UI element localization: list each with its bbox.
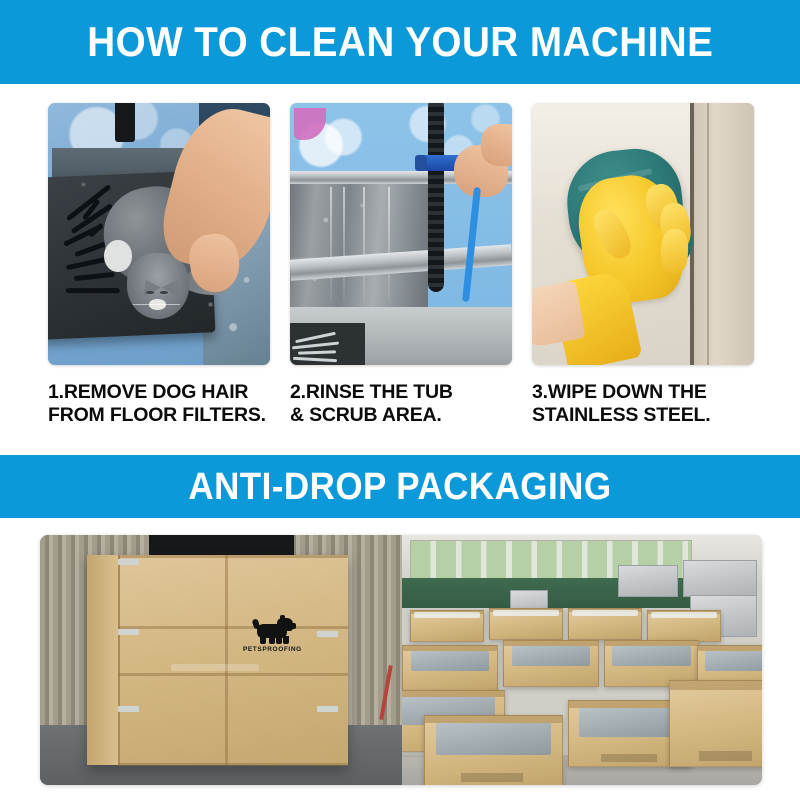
- cat-eye-right: [160, 291, 168, 294]
- packaging-banner-title: ANTI-DROP PACKAGING: [188, 468, 611, 506]
- ceiling-bar: [115, 103, 135, 142]
- crate-item: [647, 610, 721, 642]
- crate-slat: [118, 763, 348, 766]
- step-2-caption: 2.RINSE THE TUB & SCRUB AREA.: [290, 381, 512, 427]
- crate-lip: [504, 641, 597, 646]
- crate-slat: [118, 555, 348, 558]
- step-3-photo: [532, 103, 754, 365]
- dog-ear: [280, 615, 285, 622]
- crate-metal-bracket: [118, 559, 139, 565]
- cleaning-step-3: 3.WIPE DOWN THE STAINLESS STEEL.: [532, 103, 754, 427]
- water-drip: [388, 187, 390, 302]
- water-drip: [330, 187, 332, 302]
- water-drip: [343, 187, 345, 302]
- stainless-tub-insert: [436, 723, 551, 755]
- workbench-equipment: [618, 565, 678, 597]
- dog-snout: [289, 623, 296, 629]
- stainless-tub-insert: [705, 651, 762, 672]
- cleaning-banner-title: HOW TO CLEAN YOUR MACHINE: [87, 21, 713, 63]
- plastic-wrap: [493, 610, 559, 616]
- crate-metal-bracket: [118, 706, 139, 712]
- cleaning-step-1: 1.REMOVE DOG HAIR FROM FLOOR FILTERS.: [48, 103, 270, 427]
- water-drip: [363, 187, 365, 302]
- cleaning-step-2: 2.RINSE THE TUB & SCRUB AREA.: [290, 103, 512, 427]
- packaging-banner: ANTI-DROP PACKAGING: [0, 455, 800, 518]
- crate-side-panel: [87, 555, 120, 765]
- crate-metal-bracket: [317, 706, 338, 712]
- step-2-photo: [290, 103, 512, 365]
- crate-lip: [670, 681, 762, 690]
- crate-center-post: [225, 555, 228, 765]
- crate-shipping-label: [699, 751, 752, 761]
- plate-screw: [81, 182, 86, 187]
- packaging-photo-crate: PETSPROOFING: [40, 535, 402, 785]
- crate-lip: [605, 641, 698, 646]
- stainless-tub-insert: [411, 651, 490, 672]
- stainless-tub-insert: [612, 646, 691, 667]
- crate-brand-text: PETSPROOFING: [233, 646, 311, 653]
- crate-faint-marking: [171, 664, 260, 671]
- infographic-page: HOW TO CLEAN YOUR MACHINE: [0, 0, 800, 800]
- packaging-photo-warehouse: [402, 535, 762, 785]
- stainless-tub-wall: [290, 176, 428, 323]
- cleaning-steps-row: 1.REMOVE DOG HAIR FROM FLOOR FILTERS.: [48, 103, 754, 427]
- crate-item: [402, 645, 497, 692]
- dog-leg: [260, 636, 266, 644]
- crate-item: [424, 715, 563, 785]
- crate-lip: [698, 646, 762, 651]
- cat-ear-right: [162, 275, 186, 297]
- door-frame: [694, 103, 754, 365]
- packaging-photo-pair: PETSPROOFING: [40, 535, 762, 785]
- scottie-dog-icon: [249, 618, 295, 644]
- operator-forearm: [481, 124, 512, 166]
- plastic-wrap: [414, 612, 480, 618]
- crate-metal-bracket: [118, 629, 139, 635]
- dog-leg: [283, 636, 289, 644]
- cat-eye-left: [146, 291, 154, 294]
- step-3-caption: 3.WIPE DOWN THE STAINLESS STEEL.: [532, 381, 754, 427]
- crate-slat: [118, 673, 348, 676]
- crate-item: [568, 608, 642, 640]
- crate-item: [410, 610, 484, 642]
- dog-leg: [269, 636, 275, 644]
- stainless-tub-insert: [579, 708, 682, 738]
- wooden-shipping-crate: PETSPROOFING: [87, 555, 348, 765]
- workbench-equipment: [683, 560, 757, 597]
- stainless-tub-insert: [512, 646, 591, 667]
- glove-finger: [660, 228, 688, 273]
- crate-shipping-label: [461, 773, 524, 781]
- drain-hose: [428, 103, 444, 292]
- crate-item: [669, 680, 762, 767]
- crate-item: [503, 640, 598, 687]
- crate-metal-bracket: [317, 631, 338, 637]
- cat-whiskers: [133, 304, 180, 305]
- step-1-photo: [48, 103, 270, 365]
- crate-lip: [425, 716, 562, 723]
- cleaning-banner: HOW TO CLEAN YOUR MACHINE: [0, 0, 800, 84]
- plastic-wrap: [651, 612, 717, 618]
- cat-ear-left: [137, 275, 161, 297]
- dog-leg: [276, 636, 282, 644]
- crate-lip: [403, 646, 496, 651]
- cat-chest-fur: [104, 240, 131, 271]
- crate-brand-logo: PETSPROOFING: [233, 618, 311, 653]
- crate-item: [489, 608, 563, 640]
- cat-head: [127, 253, 189, 319]
- crate-shipping-label: [601, 754, 657, 762]
- plastic-wrap: [572, 610, 638, 616]
- floor-grate: [290, 323, 365, 365]
- step-1-caption: 1.REMOVE DOG HAIR FROM FLOOR FILTERS.: [48, 381, 270, 427]
